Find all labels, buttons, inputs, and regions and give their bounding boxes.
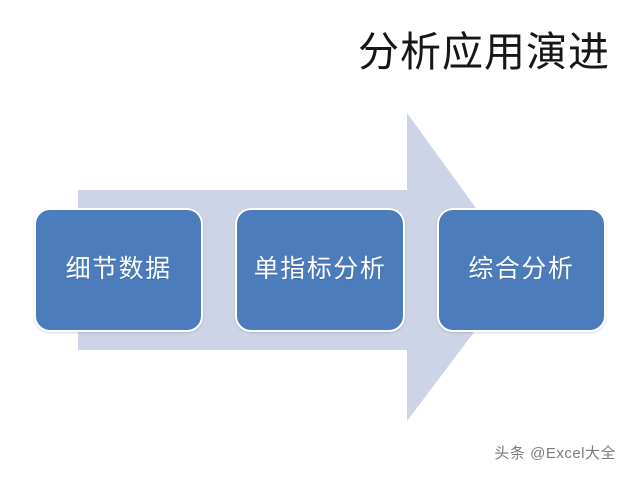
watermark-text: 头条 @Excel大全 — [494, 444, 616, 464]
page-title: 分析应用演进 — [330, 27, 610, 77]
process-box-label: 综合分析 — [468, 255, 574, 285]
presentation-slide: 分析应用演进 细节数据 单指标分析 综合分析 头条 @Excel大全 — [0, 0, 640, 480]
process-box-detail-data[interactable]: 细节数据 — [34, 208, 203, 332]
process-box-comprehensive-analysis[interactable]: 综合分析 — [437, 208, 606, 332]
process-box-row: 细节数据 单指标分析 综合分析 — [34, 208, 606, 332]
process-box-label: 细节数据 — [66, 255, 172, 285]
process-box-label: 单指标分析 — [254, 255, 387, 285]
process-box-single-metric-analysis[interactable]: 单指标分析 — [235, 208, 404, 332]
